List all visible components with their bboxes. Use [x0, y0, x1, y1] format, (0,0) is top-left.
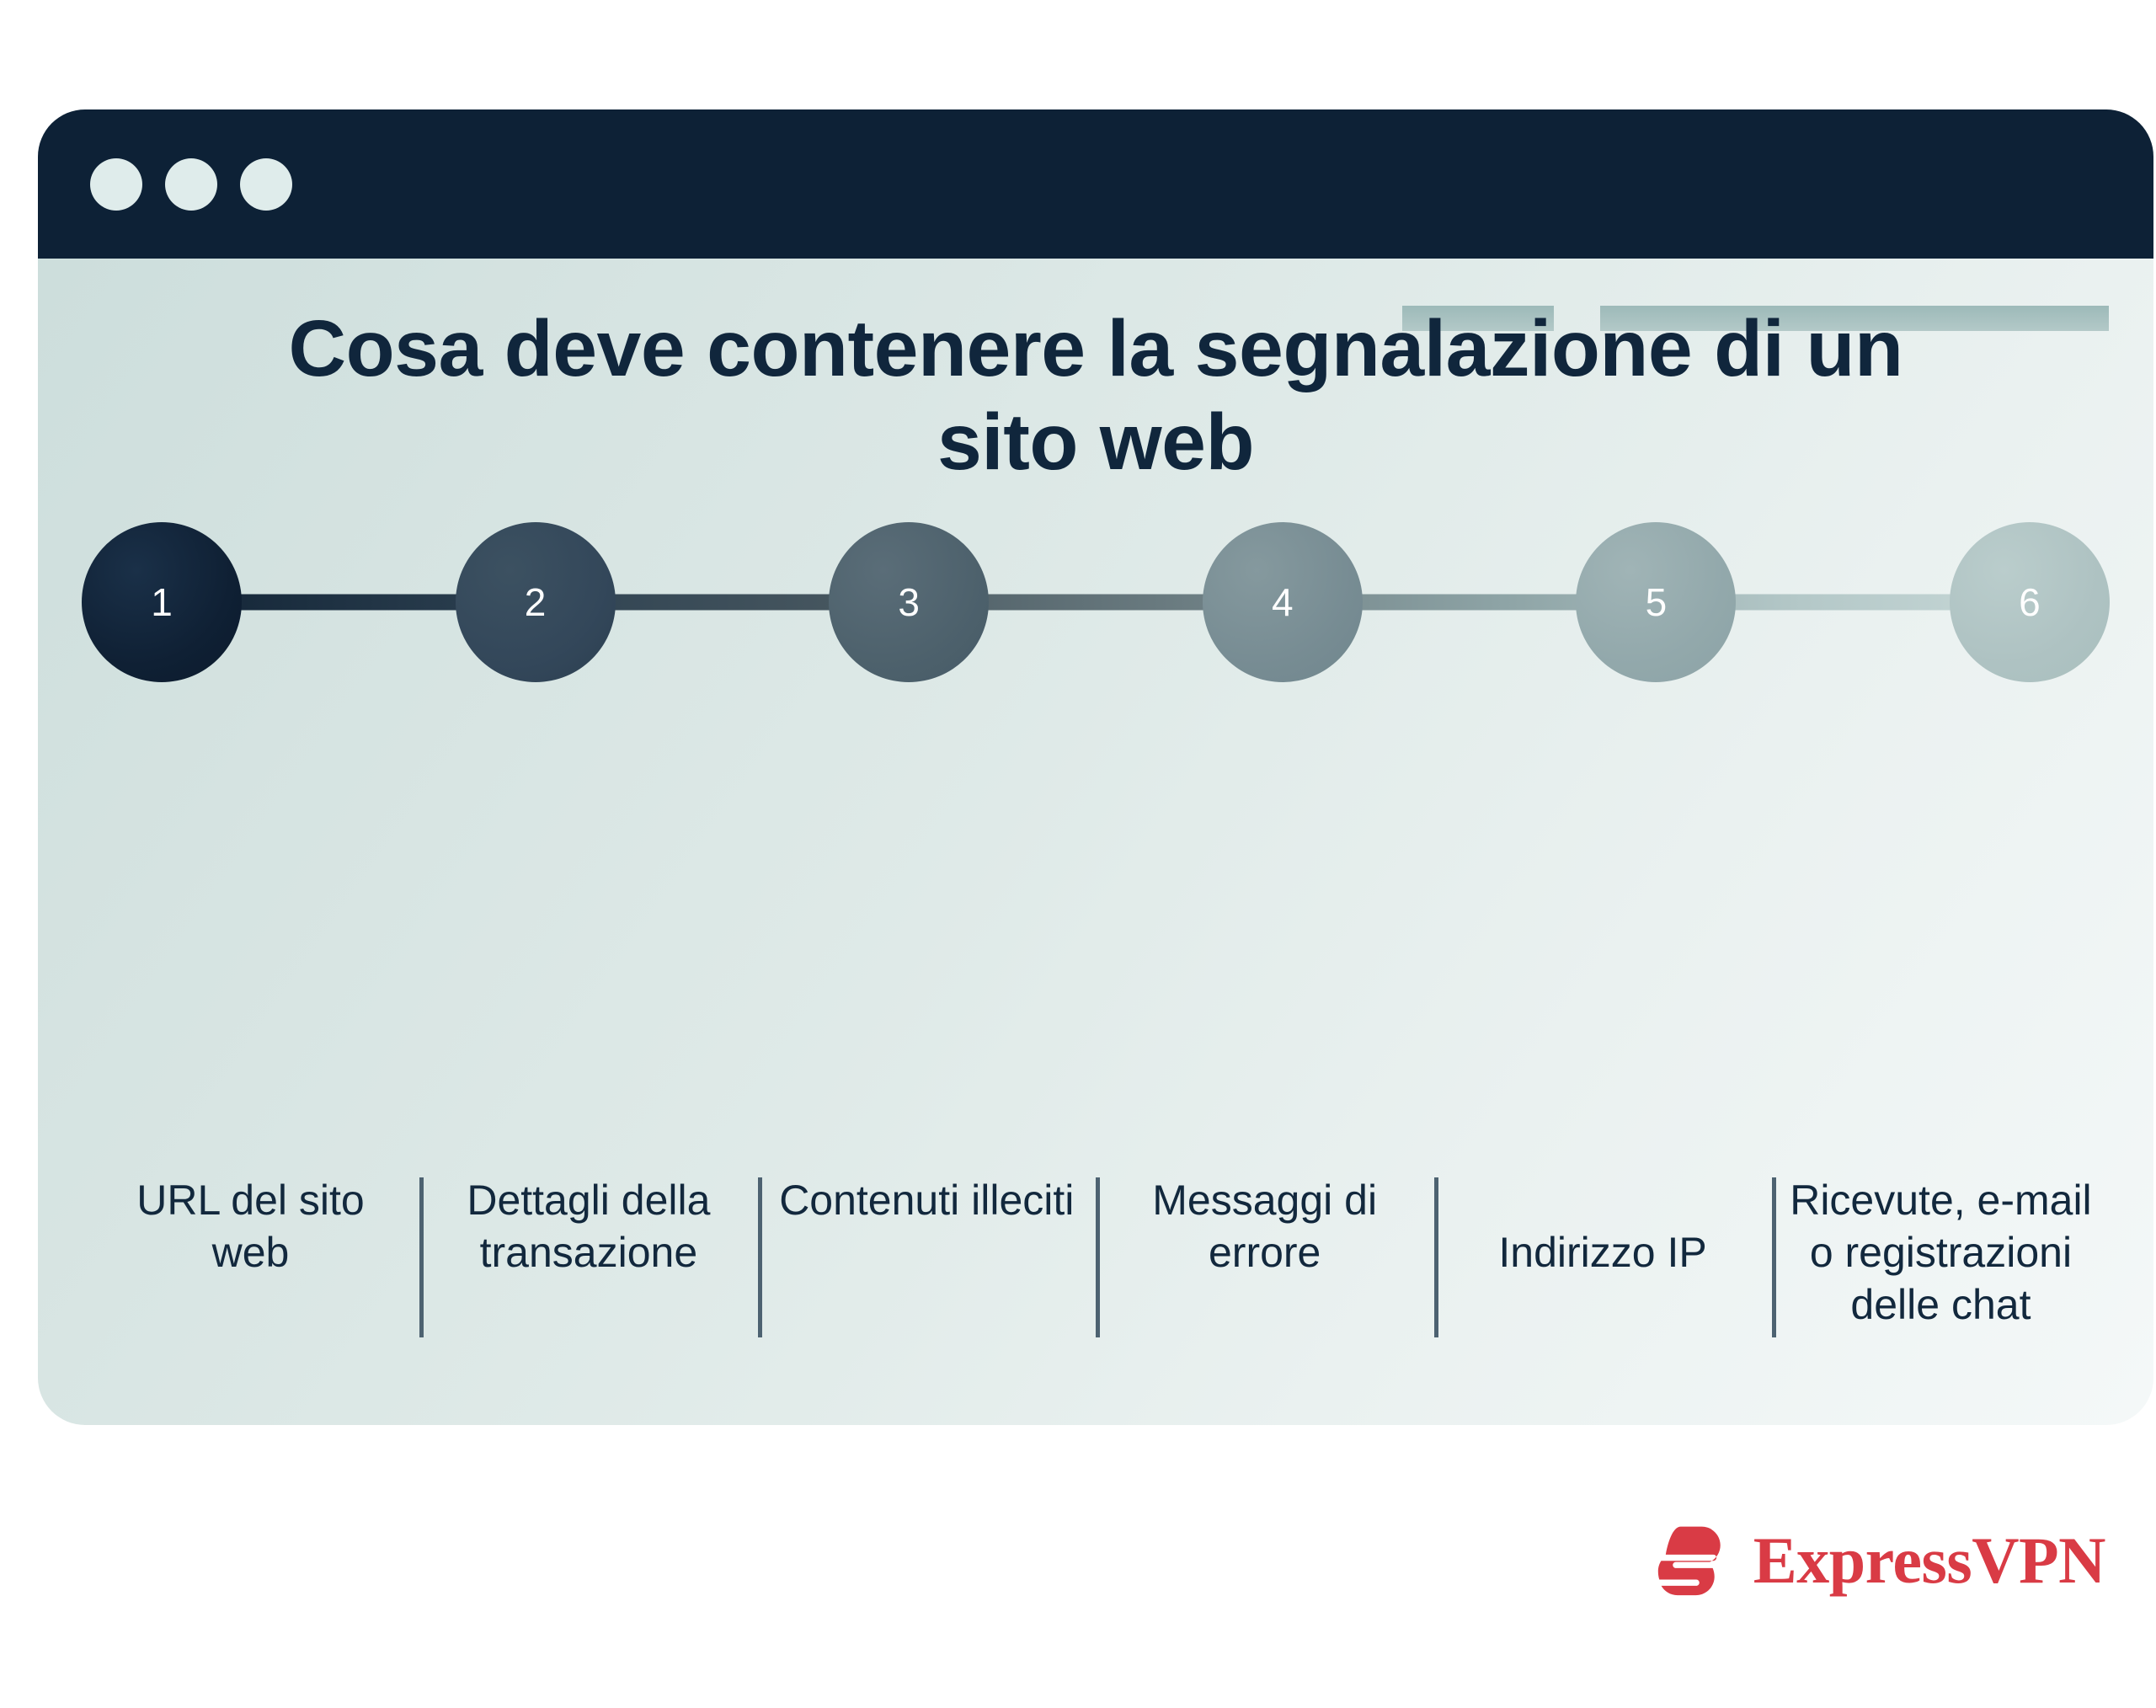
step-node-3[interactable]: 3	[829, 522, 989, 682]
browser-window-card: Cosa deve contenere la segnalazione di u…	[38, 109, 2153, 1425]
step-timeline: 1 2 3 4 5 6	[82, 522, 2110, 926]
step-label-cell-1: URL del sito web	[82, 1174, 419, 1278]
step-label-cell-4: Messaggi di errore	[1096, 1174, 1433, 1278]
browser-title-bar	[38, 109, 2153, 259]
step-label-cell-2: Dettagli della transazione	[419, 1174, 757, 1278]
step-label-5: Indirizzo IP	[1486, 1174, 1718, 1278]
step-node-1[interactable]: 1	[82, 522, 242, 682]
step-label-cell-6: Ricevute, e-mail o registrazioni delle c…	[1772, 1174, 2110, 1331]
step-number-3: 3	[898, 579, 920, 625]
window-close-dot-icon[interactable]	[90, 158, 142, 211]
step-labels: URL del sito web Dettagli della transazi…	[82, 1174, 2110, 1331]
window-maximize-dot-icon[interactable]	[240, 158, 292, 211]
step-number-5: 5	[1646, 579, 1668, 625]
step-number-2: 2	[525, 579, 547, 625]
label-divider	[1434, 1177, 1438, 1337]
brand-logo: ExpressVPN	[1654, 1520, 2105, 1601]
step-label-cell-3: Contenuti illeciti	[758, 1174, 1096, 1226]
page-title: Cosa deve contenere la segnalazione di u…	[38, 302, 2153, 489]
step-node-4[interactable]: 4	[1203, 522, 1363, 682]
step-number-4: 4	[1272, 579, 1294, 625]
label-divider	[419, 1177, 424, 1337]
label-divider	[758, 1177, 762, 1337]
window-minimize-dot-icon[interactable]	[165, 158, 217, 211]
expressvpn-mark-icon	[1654, 1520, 1735, 1601]
label-divider	[1772, 1177, 1776, 1337]
step-label-1: URL del sito web	[82, 1174, 419, 1278]
step-node-6[interactable]: 6	[1950, 522, 2110, 682]
step-node-5[interactable]: 5	[1576, 522, 1736, 682]
timeline-nodes: 1 2 3 4 5 6	[82, 522, 2110, 682]
step-label-4: Messaggi di errore	[1096, 1174, 1433, 1278]
step-label-6: Ricevute, e-mail o registrazioni delle c…	[1772, 1174, 2110, 1331]
step-number-6: 6	[2019, 579, 2041, 625]
brand-name: ExpressVPN	[1753, 1528, 2105, 1593]
label-divider	[1096, 1177, 1100, 1337]
step-label-3: Contenuti illeciti	[767, 1174, 1086, 1226]
step-label-cell-5: Indirizzo IP	[1434, 1174, 1772, 1278]
step-node-2[interactable]: 2	[456, 522, 616, 682]
step-number-1: 1	[151, 579, 173, 625]
step-label-2: Dettagli della transazione	[419, 1174, 757, 1278]
